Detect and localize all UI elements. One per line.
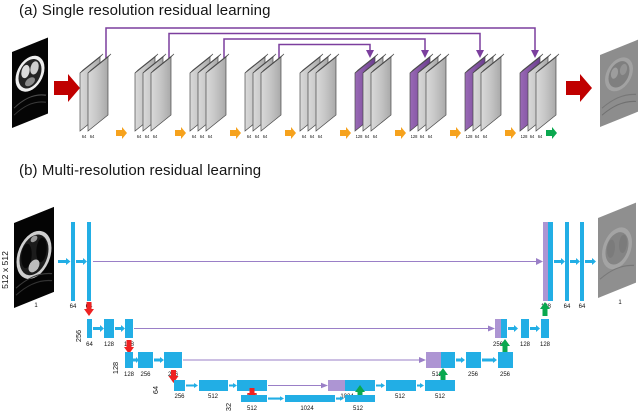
plate-label: 128 [521,134,529,139]
feature-bar-l2-dec-0[interactable] [441,352,455,368]
feature-bar-l3-enc-1[interactable] [199,380,228,391]
conv-arrow-icon [482,357,497,363]
conv-block-3[interactable]: 64 64 64 [190,54,229,139]
flow-arrow-icon [230,127,241,139]
plate-label: 64 [192,134,197,139]
input-channel-label: 1 [34,303,38,309]
channel-label: 64 [86,342,93,348]
plate-label: 64 [153,134,158,139]
feature-bar-l1-dec-1[interactable] [521,319,529,338]
conv-arrow-icon [115,325,125,332]
feature-bar-l2-dec-2[interactable] [498,352,513,368]
plate-label: 128 [356,134,364,139]
channel-label: 256 [174,394,185,400]
skip-arrow-4-icon [366,50,374,58]
flow-arrow-icon [450,127,461,139]
concat-bar-l0-dec[interactable] [543,222,548,301]
plate-label: 64 [475,134,480,139]
feature-bar-l3-dec-2[interactable] [425,380,455,391]
feature-bar-l1-dec-2[interactable] [541,319,549,338]
channel-label: 256 [140,372,151,378]
panel-b-diagram: 512 x 512 1 64 64 128 64 64 1 256 64 128… [0,188,640,415]
resolution-label-l2: 128 [111,362,120,374]
resolution-label-l3: 64 [151,386,160,394]
feature-bar-l2-enc-0[interactable] [125,352,133,368]
feature-bar-l4-0[interactable] [241,395,267,402]
plate-label: 64 [310,134,315,139]
feature-bar-l0-enc-1[interactable] [87,222,91,301]
conv-block-1[interactable]: 64 64 [80,54,111,139]
skip-arrow-l1-icon [488,326,495,332]
channel-label: 512 [208,394,219,400]
skip-connection-3 [224,39,425,58]
skip-arrow-1-icon [531,50,539,58]
feature-bar-l1-enc-1[interactable] [104,319,114,338]
channel-label: 64 [564,304,571,310]
conv-arrow-icon [76,258,87,265]
conv-block-4[interactable]: 64 64 64 [245,54,284,139]
plate-label: 64 [530,134,535,139]
feature-bar-l0-dec-1[interactable] [565,222,569,301]
panel-b-input-image [14,207,54,308]
plate-label: 128 [411,134,419,139]
concat-bar-l2-dec[interactable] [426,352,441,368]
plate-label: 64 [263,134,268,139]
channel-label: 512 [435,394,446,400]
channel-label: 512 [395,394,406,400]
plate-label: 64 [365,134,370,139]
plate-label: 64 [145,134,150,139]
output-conv-arrow-icon [585,258,596,265]
channel-label: 64 [579,304,586,310]
flow-arrow-icon [340,127,351,139]
feature-bar-l2-enc-1[interactable] [138,352,153,368]
output-arrow-icon [566,74,592,102]
plate-label: 64 [200,134,205,139]
plate-label: 64 [208,134,213,139]
feature-bar-l4-2[interactable] [345,395,375,402]
conv-block-8[interactable]: 128 64 64 [465,54,504,139]
input-arrow-icon [54,74,80,102]
feature-bar-l4-1[interactable] [285,395,335,402]
plate-label: 64 [483,134,488,139]
channel-label: 256 [500,372,511,378]
resolution-label-l4: 32 [224,403,233,411]
flow-arrow-icon [175,127,186,139]
feature-bar-l3-dec-1[interactable] [386,380,416,391]
plate-label: 64 [318,134,323,139]
conv-arrow-icon [268,396,284,401]
conv-block-6[interactable]: 128 64 64 [355,54,394,139]
plate-label: 64 [137,134,142,139]
plate-label: 64 [373,134,378,139]
channel-label: 512 [353,406,364,412]
plate-label: 64 [247,134,252,139]
panel-a-diagram: 64 64 64 64 64 64 64 64 64 64 6 [0,0,640,160]
conv-block-7[interactable]: 128 64 64 [410,54,449,139]
skip-arrow-l2-icon [419,357,426,363]
feature-bar-l2-enc-2[interactable] [164,352,182,368]
conv-arrow-icon [186,383,198,388]
conv-block-5[interactable]: 64 64 64 [300,54,339,139]
upsample-arrow-icon [438,368,448,382]
concat-bar-l1-dec[interactable] [495,319,501,338]
plate-label: 64 [90,134,95,139]
conv-arrow-icon [376,383,385,388]
plate-label: 64 [420,134,425,139]
feature-bar-l0-dec-0[interactable] [548,222,553,301]
conv-arrow-icon [229,383,237,388]
plate-label: 64 [428,134,433,139]
channel-label: 1024 [300,406,314,412]
channel-label: 128 [124,372,135,378]
skip-connection-4 [279,45,370,59]
channel-label: 256 [468,372,479,378]
feature-bar-l1-dec-0[interactable] [501,319,507,338]
feature-bar-l1-enc-0[interactable] [87,319,92,338]
panel-a-input-image [12,37,48,128]
feature-bar-l3-enc-0[interactable] [174,380,185,391]
plate-label: 64 [255,134,260,139]
conv-arrow-icon [93,325,104,332]
channel-label: 128 [540,342,551,348]
feature-bar-l2-dec-1[interactable] [466,352,481,368]
feature-bar-l0-enc-0[interactable] [71,222,75,301]
flow-arrow-icon [505,127,516,139]
channel-label: 128 [520,342,531,348]
panel-b-title: (b) Multi-resolution residual learning [19,162,261,179]
plate-label: 64 [302,134,307,139]
channel-label: 512 [247,406,258,412]
conv-arrow-icon [58,258,71,265]
flow-arrow-icon [395,127,406,139]
flow-arrow-icon [116,127,127,139]
conv-arrow-icon [456,357,465,363]
concat-bar-l3-dec[interactable] [328,380,345,391]
panel-b-output-image [598,203,636,298]
feature-bar-l1-enc-2[interactable] [125,319,133,338]
feature-bar-l0-dec-2[interactable] [580,222,584,301]
conv-arrow-icon [154,357,164,363]
skip-connection-1 [106,28,535,58]
panel-a-output-image [600,40,638,127]
input-resolution-label: 512 x 512 [0,251,10,289]
skip-arrow-l3-icon [321,383,328,388]
conv-arrow-icon [570,258,580,265]
conv-arrow-icon [508,325,518,332]
conv-block-9[interactable]: 128 64 64 [520,54,559,139]
output-conv-arrow-icon [546,127,557,139]
skip-connection-2 [169,34,480,59]
flow-arrow-icon [285,127,296,139]
conv-arrow-icon [530,325,540,332]
plate-label: 64 [538,134,543,139]
conv-block-2[interactable]: 64 64 64 [135,54,174,139]
resolution-label-l1: 256 [74,330,83,342]
skip-arrow-l0-icon [536,258,543,265]
conv-arrow-icon [417,383,424,388]
plate-label: 64 [82,134,87,139]
skip-arrow-2-icon [476,50,484,58]
channel-label: 64 [70,304,77,310]
conv-arrow-icon [554,258,565,265]
channel-label: 128 [104,342,115,348]
skip-arrow-3-icon [421,50,429,58]
output-channel-label: 1 [618,300,622,306]
plate-label: 128 [466,134,474,139]
